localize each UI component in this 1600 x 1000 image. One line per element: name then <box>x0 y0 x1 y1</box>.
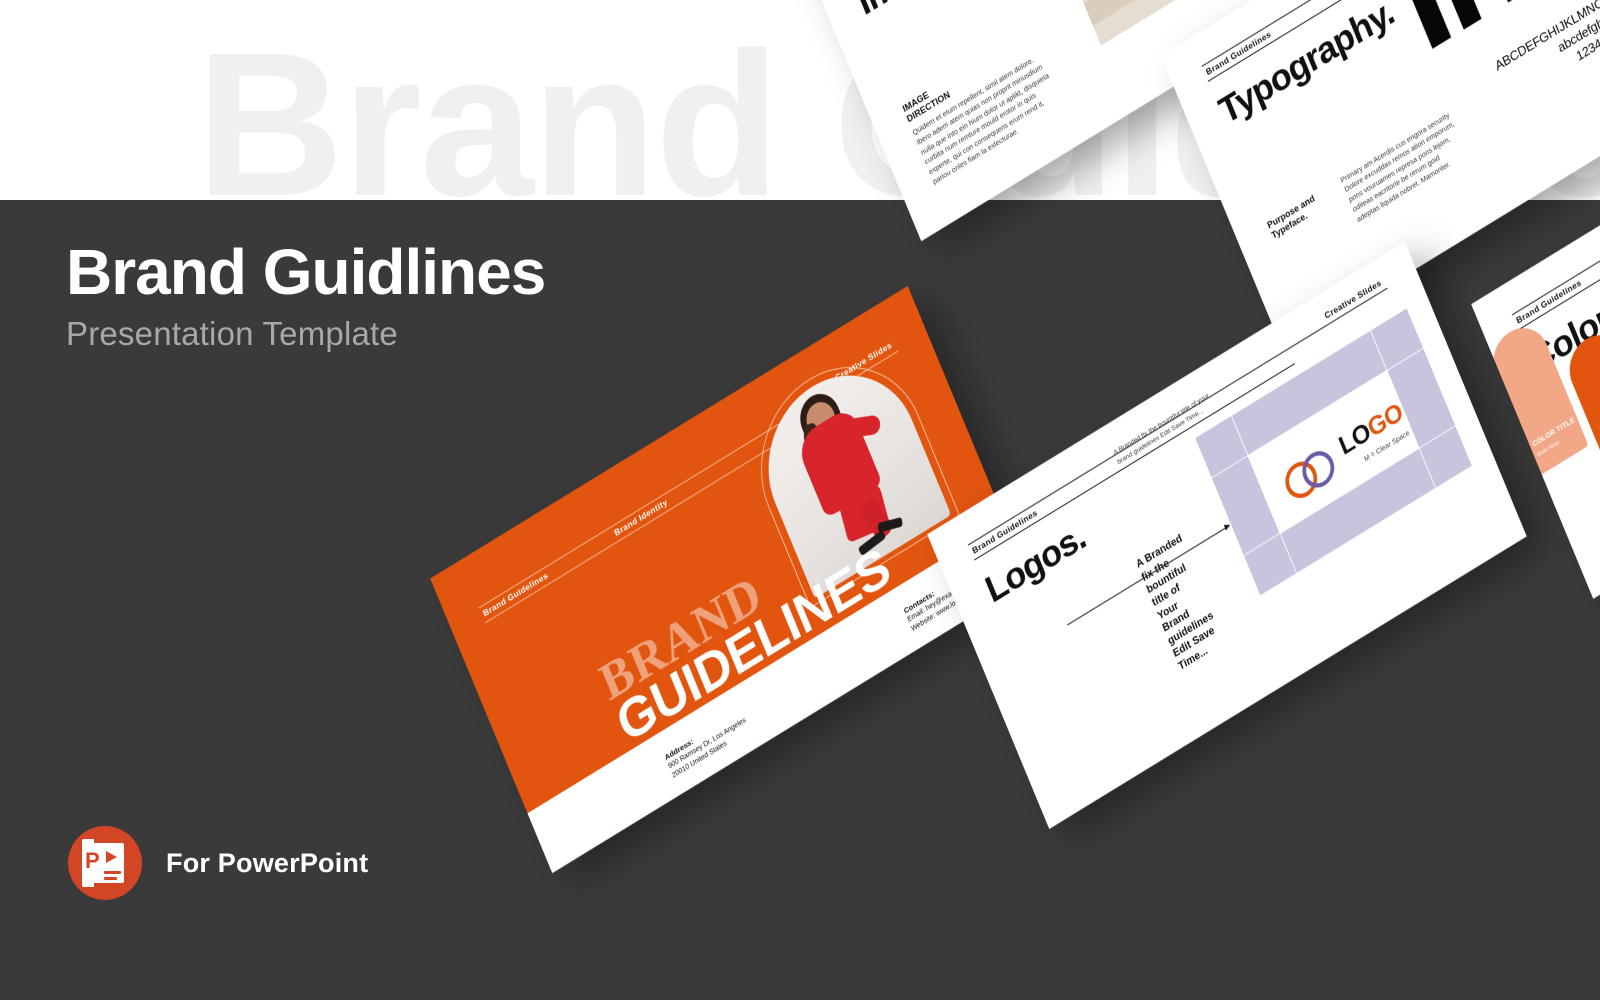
powerpoint-play-shape <box>106 851 117 863</box>
page-title: Brand Guidlines <box>66 238 545 307</box>
typography-body-text: Primary am Acerdis cus engora security D… <box>1339 109 1468 225</box>
cover-label-mid: Brand Identity <box>613 497 669 538</box>
powerpoint-icon: P <box>68 826 142 900</box>
cover-label-left: Brand Guidelines <box>481 570 549 619</box>
powerpoint-line-1 <box>104 871 121 874</box>
hero-block: Brand Guidlines Presentation Template <box>66 238 545 353</box>
page-subtitle: Presentation Template <box>66 315 545 353</box>
imagery-photo-4 <box>1060 0 1180 45</box>
powerpoint-label: For PowerPoint <box>166 848 368 879</box>
logos-clearspace-box: LOGO M = Clear Space <box>1195 309 1472 596</box>
powerpoint-badge: P For PowerPoint <box>68 826 368 900</box>
powerpoint-letter: P <box>85 850 100 872</box>
imagery-title: Imagery. <box>851 0 984 24</box>
typography-body-heading: Purpose and Typeface. <box>1266 181 1341 243</box>
photo-figure-arm <box>848 414 881 438</box>
logos-title: Logos. <box>979 514 1091 612</box>
powerpoint-line-2 <box>104 877 117 880</box>
imagery-body-text: Quidem et etum repellent, simil atem dol… <box>911 51 1063 188</box>
